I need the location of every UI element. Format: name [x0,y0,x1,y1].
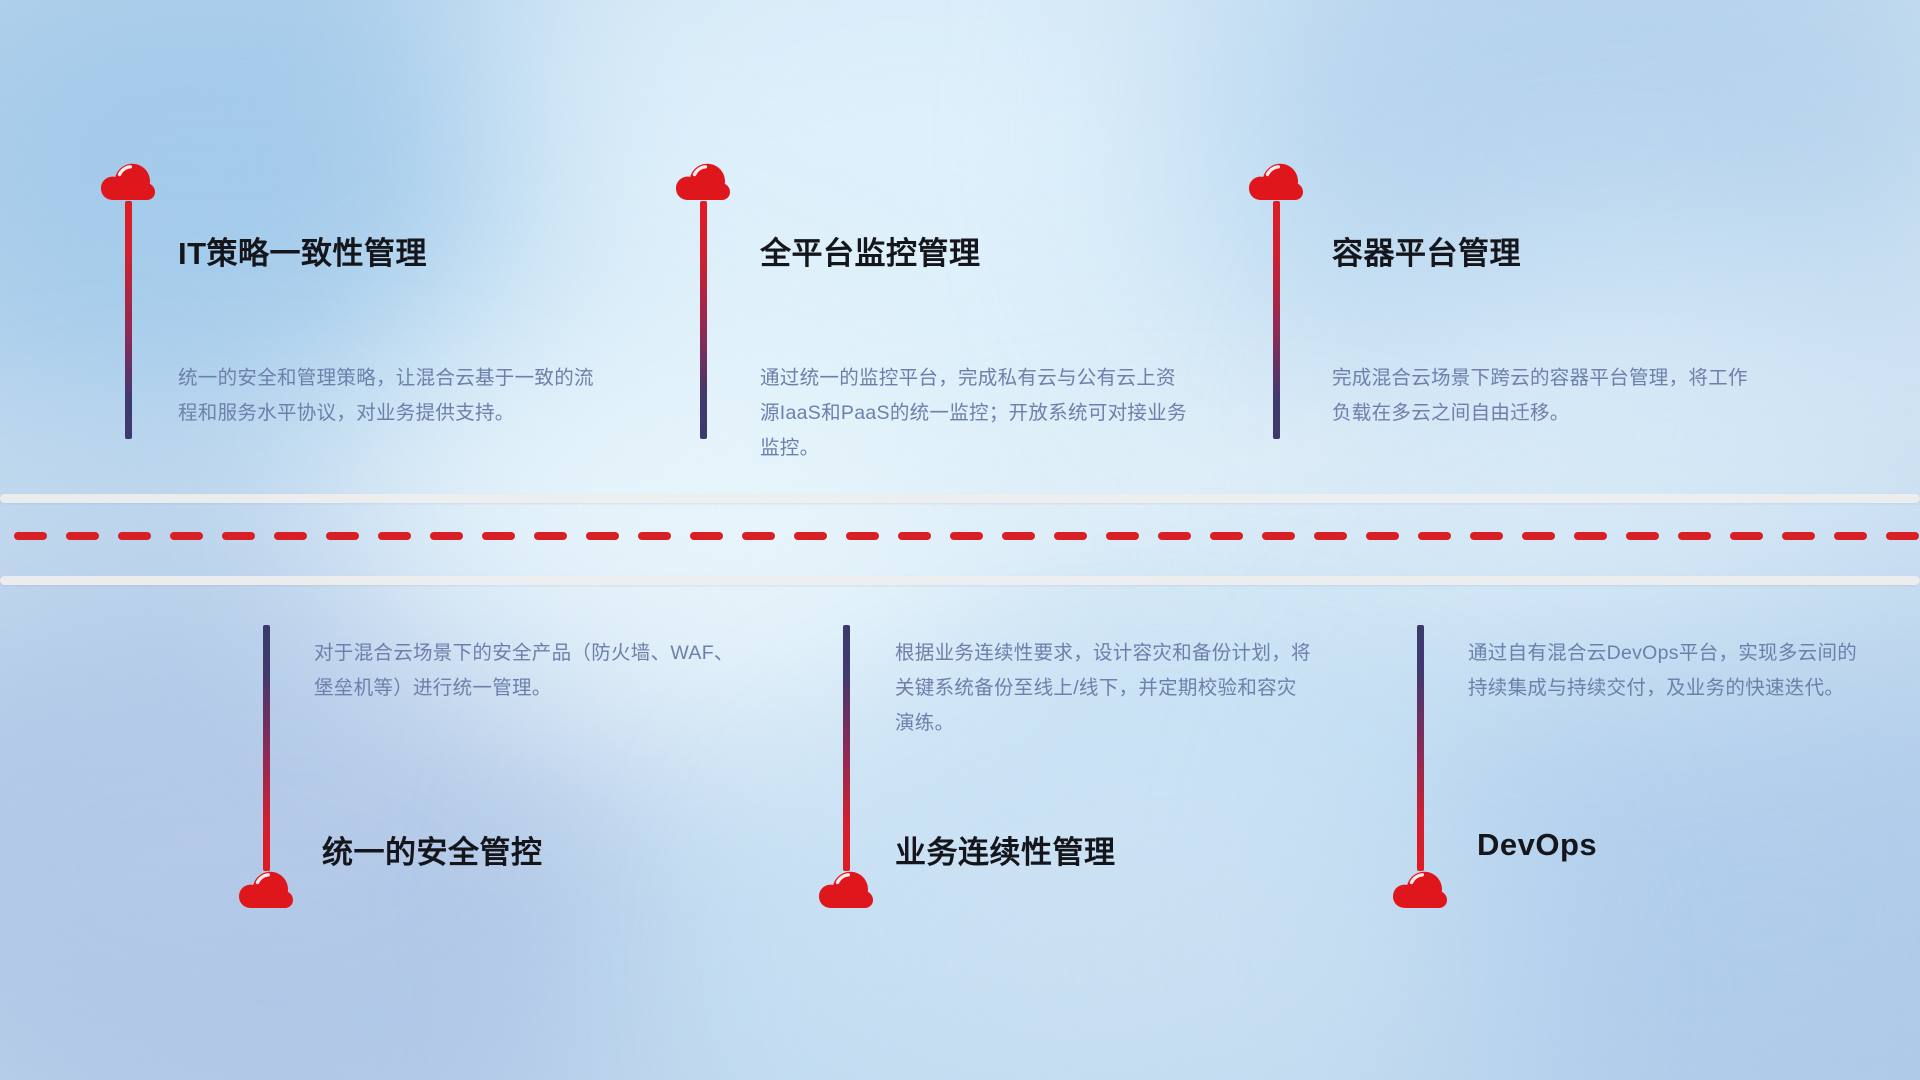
cloud-pin-icon [238,868,294,910]
road-dash [1626,532,1659,540]
card-body: 完成混合云场景下跨云的容器平台管理，将工作负载在多云之间自由迁移。 [1332,361,1752,431]
road-dash [430,532,463,540]
road-edge-line-bottom [0,576,1920,585]
road-dash [1366,532,1399,540]
road-dash [742,532,775,540]
road-dash [66,532,99,540]
pin-stem [125,201,132,439]
card-title: 容器平台管理 [1332,228,1521,273]
road-dash [898,532,931,540]
road-dash [1262,532,1295,540]
card-body: 通过统一的监控平台，完成私有云与公有云上资源IaaS和PaaS的统一监控；开放系… [760,361,1192,466]
card-title: 全平台监控管理 [760,228,981,273]
pin-stem [843,625,850,871]
card-body: 对于混合云场景下的安全产品（防火墙、WAF、堡垒机等）进行统一管理。 [314,636,734,706]
road-dash [1834,532,1867,540]
pin-stem [700,201,707,439]
card-title: IT策略一致性管理 [178,228,427,273]
cloud-pin-icon [1248,160,1304,202]
road-dash [1678,532,1711,540]
road-dash [1782,532,1815,540]
road-dash [1470,532,1503,540]
pin-stem [1273,201,1280,439]
road-divider [0,480,1920,600]
road-dash [1886,532,1919,540]
road-dash [326,532,359,540]
road-dash [1002,532,1035,540]
road-dash [1158,532,1191,540]
pin-stem [263,625,270,871]
road-dash [586,532,619,540]
road-dash [1106,532,1139,540]
road-dash [534,532,567,540]
road-dash [170,532,203,540]
road-dash [1730,532,1763,540]
road-dash [794,532,827,540]
card-body: 统一的安全和管理策略，让混合云基于一致的流程和服务水平协议，对业务提供支持。 [178,361,610,431]
road-dash [638,532,671,540]
card-title: 统一的安全管控 [322,827,543,872]
road-dash [1054,532,1087,540]
road-dash [1314,532,1347,540]
card-body: 根据业务连续性要求，设计容灾和备份计划，将关键系统备份至线上/线下，并定期校验和… [895,636,1315,741]
road-dash [222,532,255,540]
road-dash [274,532,307,540]
cloud-pin-icon [1392,868,1448,910]
road-dash [846,532,879,540]
road-dash [14,532,47,540]
road-dash [1522,532,1555,540]
road-dash [482,532,515,540]
road-dash [1574,532,1607,540]
road-dash [1210,532,1243,540]
road-dash [1418,532,1451,540]
card-title: DevOps [1477,827,1597,863]
road-dash [950,532,983,540]
cloud-pin-icon [818,868,874,910]
road-center-dashes [0,532,1920,540]
pin-stem [1417,625,1424,871]
card-title: 业务连续性管理 [895,827,1116,872]
road-edge-line-top [0,494,1920,503]
cloud-pin-icon [675,160,731,202]
road-dash [690,532,723,540]
road-dash [118,532,151,540]
road-dash [378,532,411,540]
cloud-pin-icon [100,160,156,202]
card-body: 通过自有混合云DevOps平台，实现多云间的持续集成与持续交付，及业务的快速迭代… [1468,636,1868,706]
